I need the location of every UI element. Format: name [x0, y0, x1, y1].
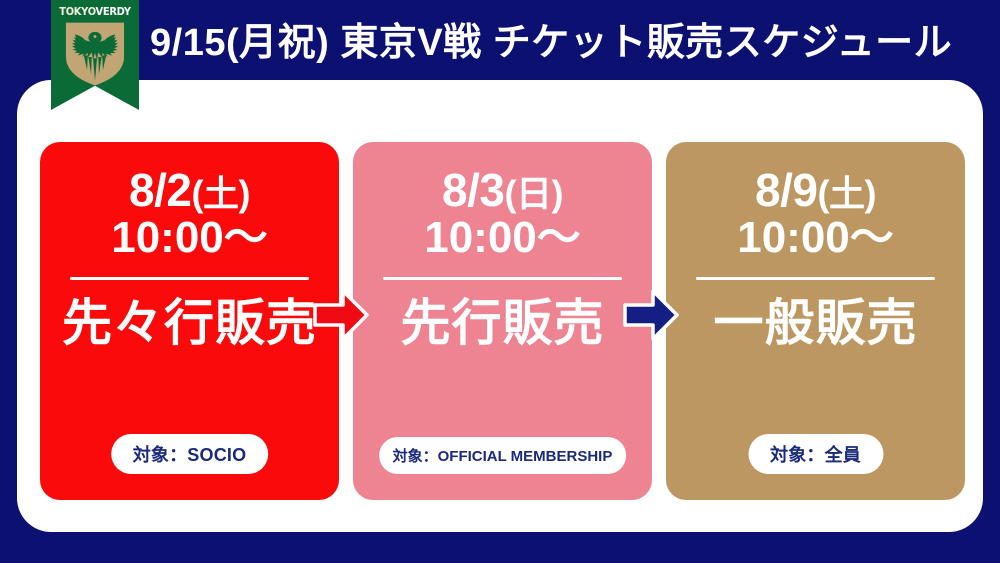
card-divider-2 [383, 277, 622, 280]
card-time-1: 10:00〜 [111, 215, 268, 261]
card-divider-3 [696, 277, 935, 280]
card-dow-1: (土) [191, 173, 249, 214]
card-label-2: 先行販売 [401, 296, 605, 351]
tokyo-verdy-wordmark: TOKYOVERDY [54, 6, 137, 18]
wordmark-verdy: VERDY [96, 6, 131, 18]
card-date-value-3: 8/9 [755, 164, 817, 216]
card-date-2: 8/3(日) [442, 166, 563, 215]
sales-phase-cards: 8/2(土) 10:00〜 先々行販売 対象：SOCIO 8/3(日) 10:0… [40, 142, 965, 500]
card-date-1: 8/2(土) [129, 166, 250, 215]
card-date-value-1: 8/2 [129, 164, 191, 216]
card-divider-1 [70, 277, 309, 280]
page-title: 9/15(月祝) 東京V戦 チケット販売スケジュール [150, 12, 970, 74]
card-label-3: 一般販売 [714, 296, 918, 351]
card-badge-1: 対象：SOCIO [111, 434, 269, 474]
card-label-1: 先々行販売 [62, 296, 317, 351]
wordmark-tokyo: TOKYO [59, 6, 95, 18]
card-badge-3: 対象：全員 [748, 434, 883, 474]
card-dow-3: (土) [817, 173, 875, 214]
card-dow-2: (日) [504, 173, 562, 214]
card-date-3: 8/9(土) [755, 166, 876, 215]
card-time-3: 10:00〜 [737, 215, 894, 261]
schedule-graphic: 9/15(月祝) 東京V戦 チケット販売スケジュール TOKYOVERDY 8/… [0, 0, 1000, 563]
arrow-right-icon [623, 288, 679, 342]
sales-phase-card-1: 8/2(土) 10:00〜 先々行販売 対象：SOCIO [40, 142, 339, 500]
verdy-eagle-crest-icon [62, 20, 128, 86]
sales-phase-card-3: 8/9(土) 10:00〜 一般販売 対象：全員 [666, 142, 965, 500]
card-time-2: 10:00〜 [424, 215, 581, 261]
card-date-value-2: 8/3 [442, 164, 504, 216]
arrow-right-icon [313, 288, 369, 342]
card-badge-2: 対象：OFFICIAL MEMBERSHIP [379, 437, 627, 474]
sales-phase-card-2: 8/3(日) 10:00〜 先行販売 対象：OFFICIAL MEMBERSHI… [353, 142, 652, 500]
